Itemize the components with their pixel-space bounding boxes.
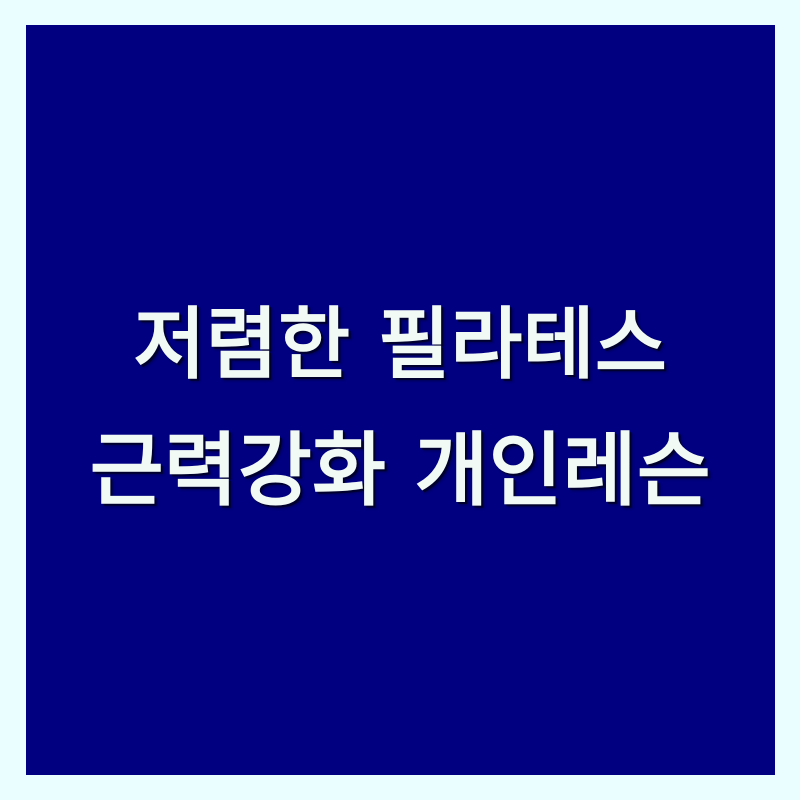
headline-line-2: 근력강화 개인레슨 [26, 408, 775, 533]
headline-line-1: 저렴한 필라테스 [26, 283, 775, 408]
banner-canvas: 저렴한 필라테스 근력강화 개인레슨 [0, 0, 800, 800]
navy-banner-panel: 저렴한 필라테스 근력강화 개인레슨 [26, 25, 775, 775]
headline-text-block: 저렴한 필라테스 근력강화 개인레슨 [26, 283, 775, 533]
